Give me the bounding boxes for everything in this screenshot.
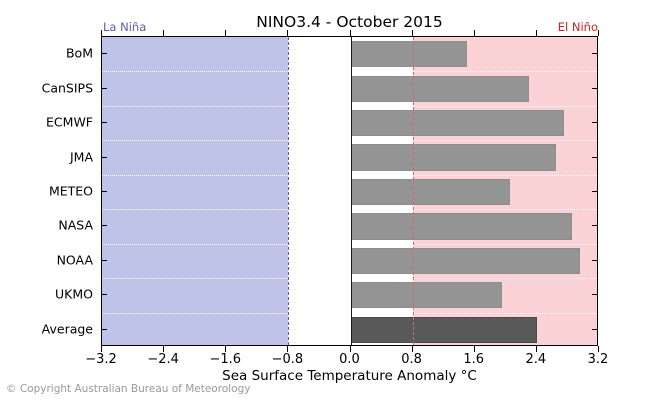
y-tick-mark [101,191,107,192]
gridline [102,244,597,245]
y-tick-label-ukmo: UKMO [55,287,93,302]
copyright-notice: © Copyright Australian Bureau of Meteoro… [6,383,250,395]
x-tick-label: −0.8 [272,352,304,367]
x-tick-label: 3.2 [588,352,609,367]
x-tick-label: −1.6 [209,352,241,367]
bar-ukmo [351,282,502,308]
nino34-forecast-chart: NINO3.4 - October 2015 La Niña El Niño B… [0,0,650,400]
bar-nasa [351,213,572,239]
y-tick-label-meteo: METEO [49,184,93,199]
y-tick-mark [592,122,598,123]
x-tick-mark-top [225,30,226,36]
y-tick-label-cansips: CanSIPS [42,80,93,95]
gridline [102,140,597,141]
gridline [102,278,597,279]
y-tick-mark [101,260,107,261]
chart-title: NINO3.4 - October 2015 [101,13,598,31]
y-tick-mark [592,225,598,226]
plot-area [101,36,598,346]
el-nino-threshold-line [413,37,414,345]
x-tick-label: 0.8 [401,352,422,367]
y-axis-tick-labels: BoMCanSIPSECMWFJMAMETEONASANOAAUKMOAvera… [0,36,93,346]
y-tick-mark [101,225,107,226]
zero-axis-line [351,37,352,345]
y-tick-label-ecmwf: ECMWF [46,115,93,130]
bar-jma [351,144,557,170]
y-tick-mark [101,53,107,54]
el-nino-region-label: El Niño [558,20,598,34]
gridline [102,106,597,107]
gridline [102,313,597,314]
x-tick-mark-top [536,30,537,36]
bar-ecmwf [351,110,565,136]
x-tick-label: 2.4 [526,352,547,367]
la-nina-threshold-line [288,37,289,345]
la-nina-region-label: La Niña [103,20,146,34]
y-tick-mark [592,157,598,158]
x-tick-mark-top [412,30,413,36]
gridline [102,71,597,72]
gridline [102,209,597,210]
y-tick-mark [592,191,598,192]
bar-bom [351,41,467,67]
x-tick-mark-top [287,30,288,36]
bar-cansips [351,76,530,102]
y-tick-label-nasa: NASA [58,218,93,233]
y-tick-label-noaa: NOAA [57,252,93,267]
y-tick-mark [101,88,107,89]
y-tick-mark [592,294,598,295]
x-tick-label: −3.2 [85,352,117,367]
x-axis-title: Sea Surface Temperature Anomaly °C [101,368,598,384]
y-tick-mark [101,122,107,123]
x-tick-mark-top [474,30,475,36]
y-tick-mark [101,157,107,158]
y-tick-mark [101,294,107,295]
y-tick-mark [592,88,598,89]
bar-noaa [351,248,580,274]
bar-average [351,317,537,343]
y-tick-mark [101,329,107,330]
bar-meteo [351,179,510,205]
x-tick-mark-top [101,30,102,36]
la-nina-shaded-band [102,37,288,345]
x-tick-label: −2.4 [147,352,179,367]
gridline [102,175,597,176]
y-tick-label-average: Average [42,321,93,336]
y-tick-label-jma: JMA [70,149,93,164]
y-tick-mark [592,53,598,54]
y-tick-mark [592,260,598,261]
x-tick-mark-top [598,30,599,36]
y-tick-label-bom: BoM [66,46,93,61]
x-tick-label: 0.0 [339,352,360,367]
x-tick-mark-top [350,30,351,36]
y-tick-mark [592,329,598,330]
x-tick-mark-top [163,30,164,36]
x-tick-label: 1.6 [463,352,484,367]
